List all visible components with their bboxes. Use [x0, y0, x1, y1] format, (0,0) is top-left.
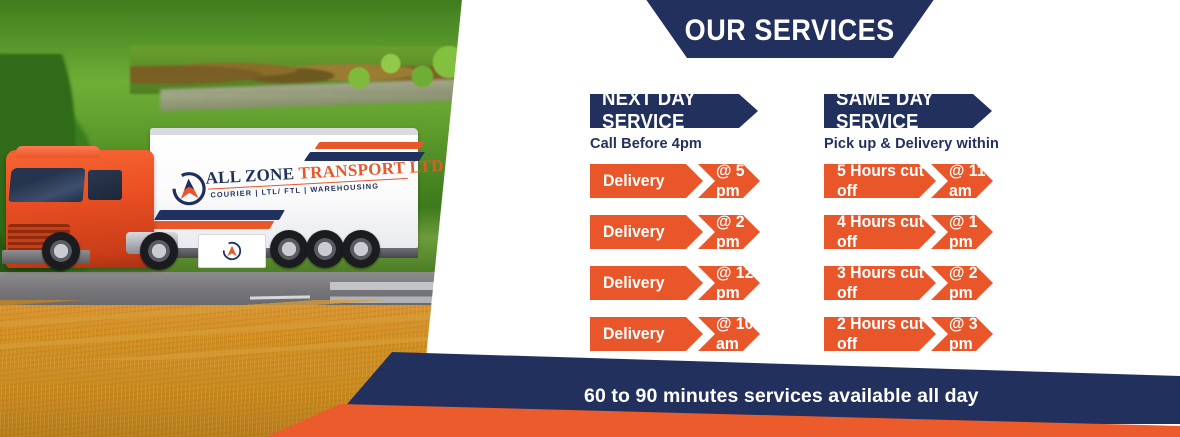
service-column-same-day: SAME DAY SERVICE Pick up & Delivery with…	[824, 94, 999, 368]
service-label: Delivery	[603, 222, 665, 242]
service-label-chip: 2 Hours cut off	[824, 317, 936, 351]
service-value: @ 10 am	[716, 314, 757, 354]
page-title: OUR SERVICES	[685, 14, 895, 48]
shrubs	[330, 30, 462, 110]
service-value-chip: @ 5 pm	[698, 164, 760, 198]
side-window	[88, 170, 122, 200]
service-value: @ 5 pm	[716, 161, 757, 201]
service-label: Delivery	[603, 324, 665, 344]
service-value: @ 11 am	[949, 161, 990, 201]
service-label-chip: Delivery	[590, 317, 703, 351]
service-label: 2 Hours cut off	[837, 314, 929, 354]
trailer-stripe-navy-bottom	[154, 210, 285, 220]
service-value-chip: @ 1 pm	[931, 215, 993, 249]
service-value: @ 2 pm	[716, 212, 757, 252]
service-value-chip: @ 2 pm	[698, 215, 760, 249]
wheel	[270, 230, 308, 268]
service-value: @ 12 pm	[716, 263, 757, 303]
lorry: ALL ZONE TRANSPORT LTD COURIER | LTL/ FT…	[2, 128, 422, 308]
service-value: @ 1 pm	[949, 212, 990, 252]
trailer-stripe-orange-bottom	[150, 221, 275, 229]
service-value-chip: @ 10 am	[698, 317, 760, 351]
service-row[interactable]: Delivery @ 2 pm	[590, 215, 758, 249]
column-subheading-next-day: Call Before 4pm	[590, 136, 758, 152]
service-row[interactable]: 2 Hours cut off @ 3 pm	[824, 317, 999, 351]
next-day-rows: Delivery @ 5 pm Delivery @ 2 pm Delivery…	[590, 164, 758, 351]
service-label-chip: Delivery	[590, 266, 703, 300]
column-heading-next-day: NEXT DAY SERVICE	[590, 94, 758, 128]
service-label-chip: Delivery	[590, 215, 703, 249]
service-value-chip: @ 11 am	[931, 164, 993, 198]
service-value: @ 3 pm	[949, 314, 990, 354]
service-label: 5 Hours cut off	[837, 161, 929, 201]
service-label: 3 Hours cut off	[837, 263, 929, 303]
service-label: Delivery	[603, 273, 665, 293]
photo-inner: ALL ZONE TRANSPORT LTD COURIER | LTL/ FT…	[0, 0, 462, 437]
service-label: Delivery	[603, 171, 665, 191]
service-label-chip: 4 Hours cut off	[824, 215, 936, 249]
column-subheading-same-day: Pick up & Delivery within	[824, 136, 999, 152]
same-day-rows: 5 Hours cut off @ 11 am 4 Hours cut off …	[824, 164, 999, 351]
windshield	[9, 168, 86, 202]
wheel	[42, 232, 80, 270]
service-label-chip: 5 Hours cut off	[824, 164, 936, 198]
trailer-rear-sign	[198, 234, 266, 268]
service-value-chip: @ 2 pm	[931, 266, 993, 300]
footer-banner-text: 60 to 90 minutes services available all …	[584, 385, 979, 408]
all-zone-logo-icon	[171, 171, 207, 207]
service-row[interactable]: Delivery @ 12 pm	[590, 266, 758, 300]
service-column-next-day: NEXT DAY SERVICE Call Before 4pm Deliver…	[590, 94, 758, 368]
service-label-chip: Delivery	[590, 164, 703, 198]
service-value-chip: @ 12 pm	[698, 266, 760, 300]
service-row[interactable]: 4 Hours cut off @ 1 pm	[824, 215, 999, 249]
wheel	[342, 230, 380, 268]
service-row[interactable]: Delivery @ 5 pm	[590, 164, 758, 198]
header-banner: OUR SERVICES	[645, 0, 935, 58]
cab-roof	[16, 146, 100, 158]
column-heading-same-day: SAME DAY SERVICE	[824, 94, 992, 128]
service-row[interactable]: 5 Hours cut off @ 11 am	[824, 164, 999, 198]
golden-field-rail	[0, 300, 462, 360]
service-label-chip: 3 Hours cut off	[824, 266, 936, 300]
column-heading-label: NEXT DAY SERVICE	[602, 88, 747, 134]
services-banner: ALL ZONE TRANSPORT LTD COURIER | LTL/ FT…	[0, 0, 1180, 437]
service-value: @ 2 pm	[949, 263, 990, 303]
trailer-stripe-orange-top	[315, 142, 425, 149]
service-value-chip: @ 3 pm	[931, 317, 993, 351]
wheel	[306, 230, 344, 268]
wheel	[140, 232, 178, 270]
service-row[interactable]: 3 Hours cut off @ 2 pm	[824, 266, 999, 300]
truck-photo: ALL ZONE TRANSPORT LTD COURIER | LTL/ FT…	[0, 0, 462, 437]
trailer-top-edge	[150, 128, 418, 135]
service-label: 4 Hours cut off	[837, 212, 929, 252]
column-heading-label: SAME DAY SERVICE	[836, 88, 981, 134]
service-row[interactable]: Delivery @ 10 am	[590, 317, 758, 351]
